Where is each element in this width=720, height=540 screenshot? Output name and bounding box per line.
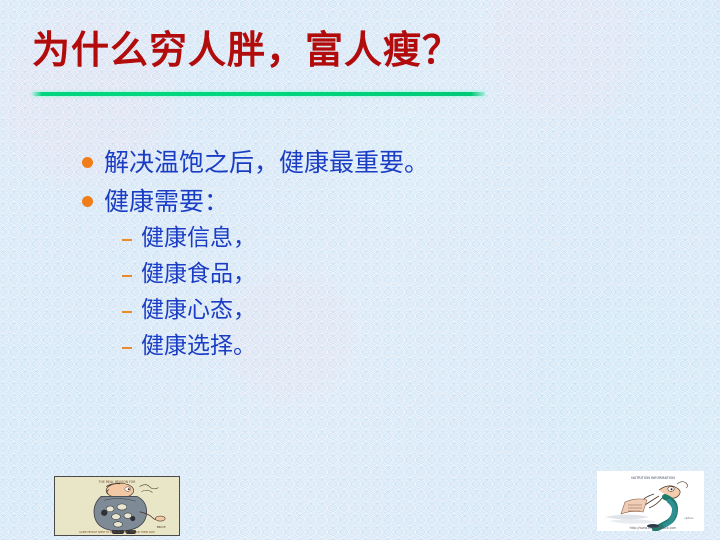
svg-text:cartoon: cartoon xyxy=(684,517,694,520)
sub-list-item-label: 健康食品， xyxy=(141,260,256,290)
sub-list-item: 健康选择。 xyxy=(122,332,642,362)
obese-person-cartoon-image: THE REAL REASON FOR xyxy=(54,476,180,536)
thin-person-cartoon-image: NUTRITION INFORMATION cartoon http://www… xyxy=(597,471,704,531)
list-item-label: 健康需要： xyxy=(104,185,229,218)
list-item: 解决温饱之后，健康最重要。 xyxy=(82,146,642,179)
sub-list-item-label: 健康信息， xyxy=(141,224,256,254)
sub-list-item: 健康心态， xyxy=(122,296,642,326)
list-item: 健康需要： xyxy=(82,185,642,218)
presentation-slide: 为什么穷人胖，富人瘦？ 解决温饱之后，健康最重要。 健康需要： 健康信息， 健康… xyxy=(0,0,720,540)
dash-bullet-icon xyxy=(122,275,132,277)
svg-text:BRUCE: BRUCE xyxy=(157,525,166,529)
sub-list: 健康信息， 健康食品， 健康心态， 健康选择。 xyxy=(122,224,642,362)
sub-list-item-label: 健康选择。 xyxy=(141,332,256,362)
filled-circle-bullet-icon xyxy=(82,157,93,168)
filled-circle-bullet-icon xyxy=(82,196,93,207)
title-block: 为什么穷人胖，富人瘦？ xyxy=(32,28,492,72)
sub-list-item: 健康食品， xyxy=(122,260,642,290)
thin-person-cartoon-svg: NUTRITION INFORMATION cartoon http://www… xyxy=(597,471,704,531)
sub-list-item: 健康信息， xyxy=(122,224,642,254)
svg-text:http://www.cartoonstock.com: http://www.cartoonstock.com xyxy=(630,526,677,530)
page-title: 为什么穷人胖，富人瘦？ xyxy=(32,28,492,72)
obese-person-cartoon-svg: THE REAL REASON FOR xyxy=(55,477,179,535)
list-item-label: 解决温饱之后，健康最重要。 xyxy=(104,146,429,179)
dash-bullet-icon xyxy=(122,347,132,349)
svg-text:NUTRITION INFORMATION: NUTRITION INFORMATION xyxy=(631,476,675,480)
svg-text:SOME PEOPLE SEEM TO HAVE ALL T: SOME PEOPLE SEEM TO HAVE ALL THE TIME ON… xyxy=(79,530,155,534)
dash-bullet-icon xyxy=(122,239,132,241)
body-content-list: 解决温饱之后，健康最重要。 健康需要： 健康信息， 健康食品， 健康心态， 健康… xyxy=(82,146,642,368)
dash-bullet-icon xyxy=(122,311,132,313)
title-underline-rule xyxy=(32,92,485,96)
sub-list-item-label: 健康心态， xyxy=(141,296,256,326)
